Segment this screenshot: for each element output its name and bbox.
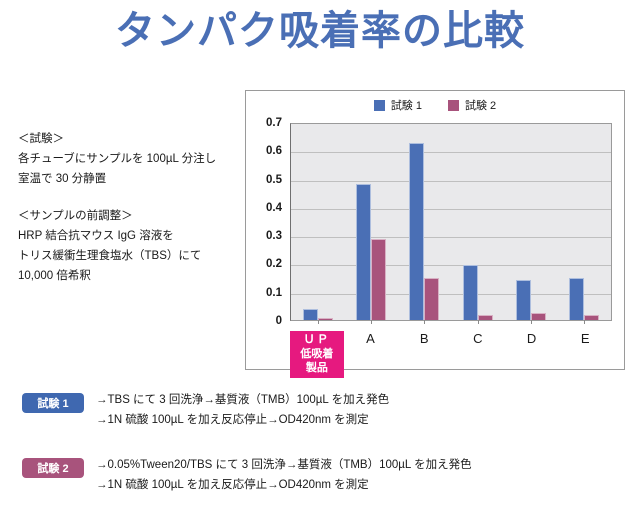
bar-series-1 xyxy=(356,184,371,320)
y-axis-tick: 0.5 xyxy=(266,174,282,186)
y-axis-tick: 0.7 xyxy=(266,117,282,129)
bar-series-2 xyxy=(371,239,386,320)
y-axis-tick: 0.6 xyxy=(266,145,282,157)
up-product-badge: ＵＰ低吸着製品 xyxy=(290,331,344,378)
experiment-description: ＜試験＞ 各チューブにサンプルを 100µL 分注し 室温で 30 分静置 ＜サ… xyxy=(18,129,233,286)
x-axis-tick xyxy=(478,320,479,324)
bar-group xyxy=(291,124,344,320)
page-title: タンパク吸着率の比較 xyxy=(0,6,640,56)
bar-chart-panel: 試験 1 試験 2 0.70.60.50.40.30.20.10 ＵＰ低吸着製品… xyxy=(245,90,625,370)
x-label-up-badge: ＵＰ低吸着製品 xyxy=(290,325,344,371)
description-group-sample-prep: ＜サンプルの前調整＞ HRP 結合抗マウス IgG 溶液を トリス緩衝生理食塩水… xyxy=(18,206,233,286)
bar-group xyxy=(398,124,451,320)
up-badge-top-label: ＵＰ xyxy=(296,333,338,347)
bar-group xyxy=(451,124,504,320)
bar-group xyxy=(504,124,557,320)
legend-swatch-icon xyxy=(448,100,459,111)
footnote-line: →0.05%Tween20/TBS にて 3 回洗浄→基質液（TMB）100µL… xyxy=(96,455,472,475)
bar-series-2 xyxy=(318,318,333,320)
bar-series-1 xyxy=(409,143,424,320)
x-axis-tick xyxy=(424,320,425,324)
y-axis-tick: 0 xyxy=(276,315,282,327)
legend-item-series-1: 試験 1 xyxy=(374,97,422,113)
up-badge-bottom-label: 低吸着製品 xyxy=(296,347,338,375)
footnote-line: →1N 硫酸 100µL を加え反応停止→OD420nm を測定 xyxy=(96,475,472,495)
x-axis-label: E xyxy=(558,325,612,371)
description-line: 各チューブにサンプルを 100µL 分注し xyxy=(18,149,233,169)
x-axis-labels: ＵＰ低吸着製品ABCDE xyxy=(290,325,612,371)
description-heading: ＜サンプルの前調整＞ xyxy=(18,206,233,226)
bar-series-1 xyxy=(569,278,584,320)
bar-series-2 xyxy=(424,278,439,320)
legend-swatch-icon xyxy=(374,100,385,111)
plot-wrapper: 0.70.60.50.40.30.20.10 ＵＰ低吸着製品ABCDE xyxy=(256,123,614,361)
y-axis-tick: 0.2 xyxy=(266,258,282,270)
footnote-row-test-1: 試験 1 →TBS にて 3 回洗浄→基質液（TMB）100µL を加え発色 →… xyxy=(22,390,389,430)
x-axis-tick xyxy=(531,320,532,324)
description-line: 10,000 倍希釈 xyxy=(18,266,233,286)
footnote-line: →1N 硫酸 100µL を加え反応停止→OD420nm を測定 xyxy=(96,410,389,430)
y-axis: 0.70.60.50.40.30.20.10 xyxy=(256,123,286,321)
description-line: 室温で 30 分静置 xyxy=(18,169,233,189)
y-axis-tick: 0.1 xyxy=(266,287,282,299)
bar-series-2 xyxy=(531,313,546,320)
legend-label: 試験 2 xyxy=(465,97,496,113)
chart-legend: 試験 1 試験 2 xyxy=(246,97,624,113)
bars-layer xyxy=(291,124,611,320)
description-heading: ＜試験＞ xyxy=(18,129,233,149)
bar-series-1 xyxy=(463,265,478,320)
x-axis-tick xyxy=(584,320,585,324)
y-axis-tick: 0.4 xyxy=(266,202,282,214)
x-axis-label: D xyxy=(505,325,559,371)
y-axis-tick: 0.3 xyxy=(266,230,282,242)
bar-group xyxy=(344,124,397,320)
x-axis-tick xyxy=(318,320,319,324)
x-axis-tick xyxy=(371,320,372,324)
bar-series-2 xyxy=(478,315,493,320)
plot-area xyxy=(290,123,612,321)
footnote-row-test-2: 試験 2 →0.05%Tween20/TBS にて 3 回洗浄→基質液（TMB）… xyxy=(22,455,472,495)
x-axis-label: C xyxy=(451,325,505,371)
footnote-text-test-1: →TBS にて 3 回洗浄→基質液（TMB）100µL を加え発色 →1N 硫酸… xyxy=(96,390,389,430)
bar-series-1 xyxy=(303,309,318,320)
footnote-line: →TBS にて 3 回洗浄→基質液（TMB）100µL を加え発色 xyxy=(96,390,389,410)
description-line: HRP 結合抗マウス IgG 溶液を xyxy=(18,226,233,246)
description-line: トリス緩衝生理食塩水（TBS）にて xyxy=(18,246,233,266)
bar-series-1 xyxy=(516,280,531,320)
footnote-badge-test-2: 試験 2 xyxy=(22,458,84,478)
x-axis-label: A xyxy=(344,325,398,371)
legend-label: 試験 1 xyxy=(391,97,422,113)
bar-series-2 xyxy=(584,315,599,320)
footnote-badge-test-1: 試験 1 xyxy=(22,393,84,413)
footnote-text-test-2: →0.05%Tween20/TBS にて 3 回洗浄→基質液（TMB）100µL… xyxy=(96,455,472,495)
x-axis-label: B xyxy=(397,325,451,371)
legend-item-series-2: 試験 2 xyxy=(448,97,496,113)
description-group-test: ＜試験＞ 各チューブにサンプルを 100µL 分注し 室温で 30 分静置 xyxy=(18,129,233,189)
bar-group xyxy=(558,124,611,320)
